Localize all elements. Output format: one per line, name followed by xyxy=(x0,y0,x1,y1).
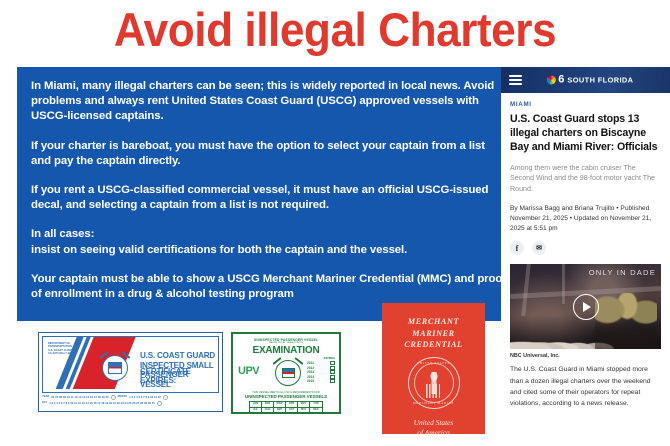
punch-hole xyxy=(111,395,116,400)
news-brand[interactable]: 6 SOUTH FLORIDA xyxy=(546,75,633,86)
mmc-seal-top-text: UNITED STATES xyxy=(409,361,459,365)
info-paragraph-2: If your charter is bareboat, you must ha… xyxy=(31,139,501,169)
social-share-row: f ✉ xyxy=(510,241,661,255)
upv-exam-title: EXAMINATION xyxy=(233,345,339,356)
upv-middle-row: UPV EXPIRES 2011 2012 2013 2014 2015 xyxy=(233,356,339,390)
mmc-country-line-1: United States xyxy=(382,418,485,429)
info-paragraph-3: If you rent a USCG-classified commercial… xyxy=(31,183,501,213)
upv-month-grid: JAN FEB MAR APR MAY JUN JUL AUG SEP OCT … xyxy=(249,401,323,413)
decal-department-text: DEPARTMENT OF TRANSPORTATION U.S. COAST … xyxy=(48,342,74,356)
day-label: DAY xyxy=(42,400,47,406)
decal-title-line1: U.S. COAST GUARD xyxy=(140,351,218,361)
upv-bold-line: UNINSPECTED PASSENGER VESSELS xyxy=(233,394,339,399)
article-lede: The U.S. Coast Guard in Miami stopped mo… xyxy=(510,364,661,410)
upv-year-checkbox[interactable] xyxy=(330,370,335,374)
info-paragraph-1: In Miami, many illegal charters can be s… xyxy=(31,79,501,125)
upv-abbrev: UPV xyxy=(238,365,259,377)
article-headline[interactable]: U.S. Coast Guard stops 13 illegal charte… xyxy=(510,112,661,155)
info-panel: In Miami, many illegal charters can be s… xyxy=(17,67,501,321)
facebook-icon[interactable]: f xyxy=(510,241,524,255)
decal-expiry-label: CERTIFICATE EXPIRES: xyxy=(140,367,218,385)
mmc-seal-bottom-text: MERCHANT MARINE xyxy=(409,401,459,405)
upv-examination-decal: UNINSPECTED PASSENGER VESSEL MARINE DECA… xyxy=(231,332,341,414)
upv-year: 2011 xyxy=(307,361,314,365)
upv-year: 2012 xyxy=(307,366,314,370)
mmc-line-1: MERCHANT xyxy=(382,316,485,328)
mmc-line-2: MARINER xyxy=(382,328,485,340)
upv-year-checkbox[interactable] xyxy=(330,361,335,365)
day-values: 1 2 3 4 5 6 7 8 9 10 11 12 13 14 15 16 1… xyxy=(49,400,155,406)
news-body: MIAMI U.S. Coast Guard stops 13 illegal … xyxy=(501,93,670,410)
news-site-header: 6 SOUTH FLORIDA xyxy=(501,67,670,93)
nbc-peacock-icon xyxy=(546,76,555,85)
video-bg-detail xyxy=(562,264,565,304)
poster-root: Avoid illegal Charters In Miami, many il… xyxy=(0,0,670,446)
upv-year-checkbox[interactable] xyxy=(330,375,335,379)
info-paragraph-5: Your captain must be able to show a USCG… xyxy=(31,272,501,302)
article-dek: Among them were the cabin cruiser The Se… xyxy=(510,163,661,195)
merchant-marine-seal-icon: UNITED STATES MERCHANT MARINE xyxy=(408,357,460,409)
punch-row-day: DAY 1 2 3 4 5 6 7 8 9 10 11 12 13 14 15 … xyxy=(42,400,219,406)
video-watermark: ONLY IN DADE xyxy=(589,268,656,277)
video-bg-detail xyxy=(521,264,530,316)
upv-year-checkbox[interactable] xyxy=(330,366,335,370)
upv-year-checkbox[interactable] xyxy=(330,379,335,383)
hamburger-icon[interactable] xyxy=(509,75,522,85)
brand-name: SOUTH FLORIDA xyxy=(567,76,633,85)
uscg-inspected-vessel-decal: DEPARTMENT OF TRANSPORTATION U.S. COAST … xyxy=(38,332,223,412)
punch-hole xyxy=(163,395,168,400)
mmc-country-line-2: of America xyxy=(382,428,485,434)
upv-expires-label: EXPIRES xyxy=(307,357,335,360)
article-video-thumbnail[interactable]: ONLY IN DADE xyxy=(510,264,661,349)
upv-year: 2015 xyxy=(307,379,314,383)
decal-inner-frame: DEPARTMENT OF TRANSPORTATION U.S. COAST … xyxy=(42,336,219,393)
upv-expiry-years: EXPIRES 2011 2012 2013 2014 2015 xyxy=(307,357,335,384)
punch-hole xyxy=(157,401,162,406)
merchant-mariner-credential-card: MERCHANT MARINER CREDENTIAL UNITED STATE… xyxy=(382,303,485,434)
upv-month: NOV xyxy=(298,408,310,413)
upv-year: 2013 xyxy=(307,370,314,374)
decal-date-punch-strip: YEAR 06 07 08 09 10 11 12 13 14 15 16 17… xyxy=(42,394,219,409)
article-byline: By Marissa Bagg and Briana Trujillo • Pu… xyxy=(510,204,661,233)
channel-number: 6 xyxy=(558,75,564,86)
page-title: Avoid illegal Charters xyxy=(20,2,650,58)
mmc-line-3: CREDENTIAL xyxy=(382,339,485,351)
coast-guard-seal-icon xyxy=(273,358,303,388)
upv-month: JUL xyxy=(250,408,262,413)
upv-month: AUG xyxy=(262,408,274,413)
coast-guard-seal-icon xyxy=(100,353,130,383)
upv-sub-line: MARINE DECAL / PARA SU BOTE xyxy=(233,342,339,344)
upv-month: SEP xyxy=(274,408,286,413)
video-credit: NBC Universal, Inc. xyxy=(510,353,661,359)
info-paragraph-4: In all cases: insist on seeing valid cer… xyxy=(31,227,501,257)
upv-year: 2014 xyxy=(307,375,314,379)
upv-month: DEC xyxy=(310,408,322,413)
news-article-panel: 6 SOUTH FLORIDA MIAMI U.S. Coast Guard s… xyxy=(501,67,670,446)
video-bg-detail xyxy=(595,293,657,349)
upv-month: OCT xyxy=(286,408,298,413)
article-kicker[interactable]: MIAMI xyxy=(510,101,661,108)
play-icon[interactable] xyxy=(573,294,599,320)
email-icon[interactable]: ✉ xyxy=(532,241,546,255)
